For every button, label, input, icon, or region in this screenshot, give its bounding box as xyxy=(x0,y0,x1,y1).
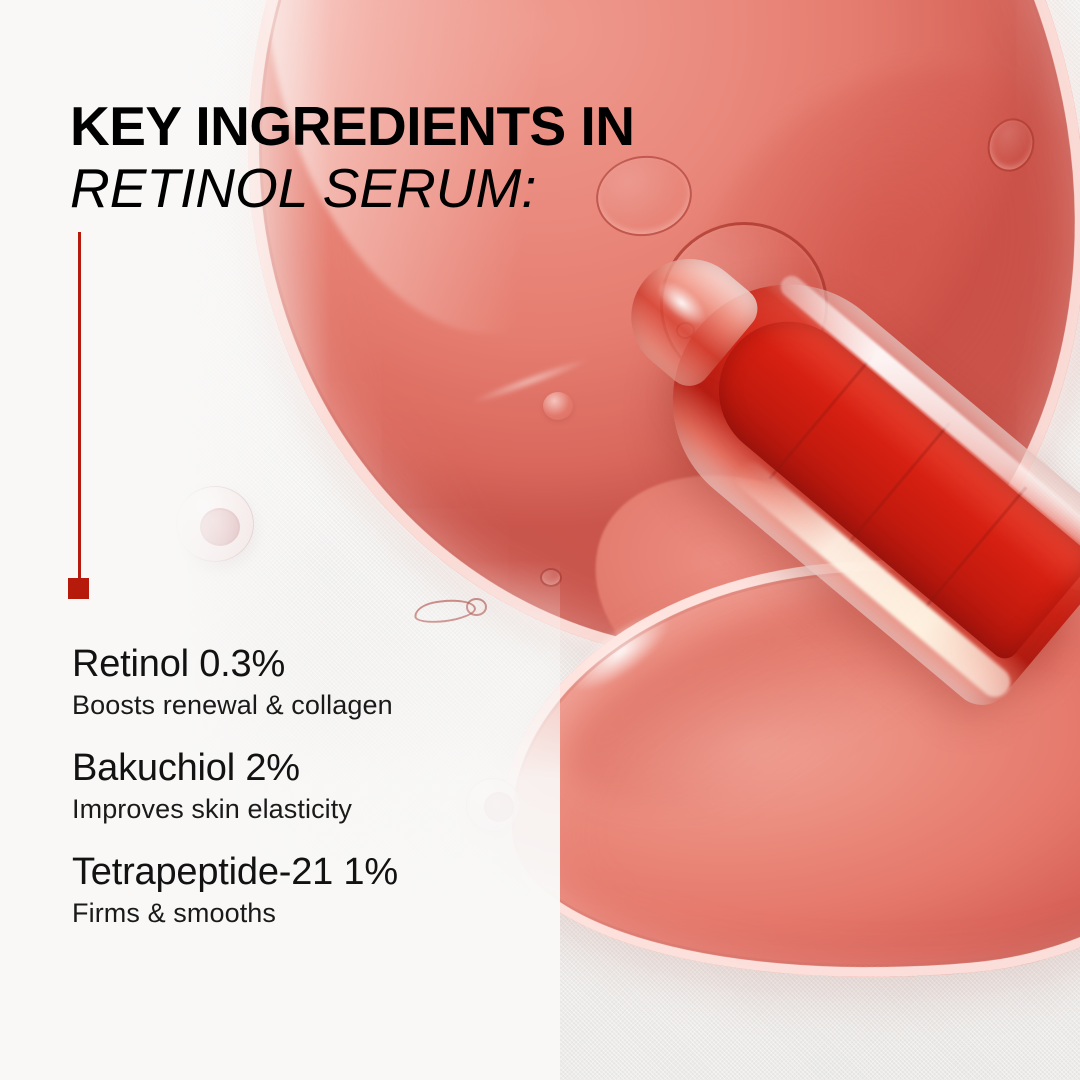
list-item: Bakuchiol 2% Improves skin elasticity xyxy=(72,749,542,825)
list-item: Tetrapeptide-21 1% Firms & smooths xyxy=(72,853,542,929)
vertical-accent-rule xyxy=(78,232,81,580)
ingredient-name: Retinol 0.3% xyxy=(72,645,542,685)
ingredient-description: Improves skin elasticity xyxy=(72,794,542,825)
ingredient-list: Retinol 0.3% Boosts renewal & collagen B… xyxy=(72,645,542,929)
ingredient-description: Boosts renewal & collagen xyxy=(72,690,542,721)
square-accent-marker xyxy=(68,578,89,599)
text-content-layer: KEY INGREDIENTS IN RETINOL SERUM: Retino… xyxy=(0,0,1080,1080)
headline-block: KEY INGREDIENTS IN RETINOL SERUM: xyxy=(70,100,830,216)
ingredient-name: Tetrapeptide-21 1% xyxy=(72,853,542,893)
list-item: Retinol 0.3% Boosts renewal & collagen xyxy=(72,645,542,721)
poster-canvas: KEY INGREDIENTS IN RETINOL SERUM: Retino… xyxy=(0,0,1080,1080)
headline-line-2: RETINOL SERUM: xyxy=(70,162,830,216)
headline-line-1: KEY INGREDIENTS IN xyxy=(70,100,830,154)
ingredient-description: Firms & smooths xyxy=(72,898,542,929)
ingredient-name: Bakuchiol 2% xyxy=(72,749,542,789)
